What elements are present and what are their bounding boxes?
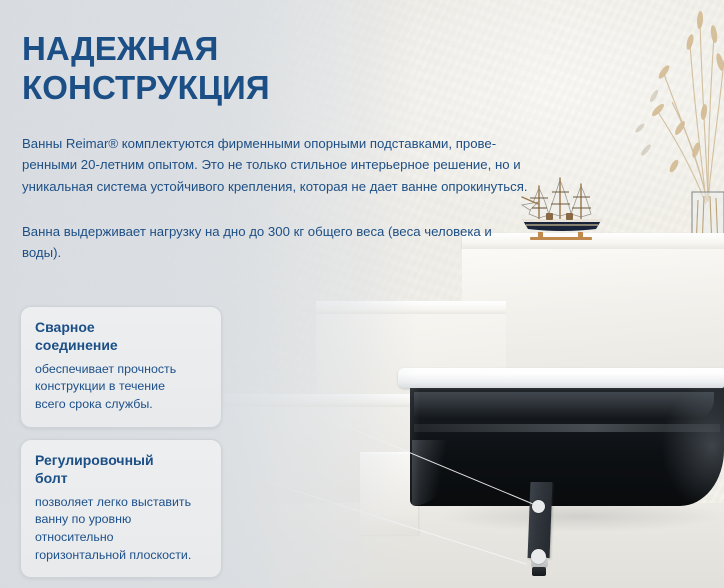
feature-card-title: Регулировочный болт [35, 452, 207, 488]
feature-card-adjusting-bolt[interactable]: Регулировочный болт позволяет легко выст… [20, 439, 222, 578]
feature-card-text: позволяет легко выставить ванну по уровн… [35, 494, 207, 564]
feature-card-title: Сварное соединение [35, 319, 207, 355]
feature-card-text: обеспечивает прочность конструкции в теч… [35, 361, 207, 414]
promo-slide: НАДЕЖНАЯ КОНСТРУКЦИЯ Ванны Reimar® компл… [0, 0, 724, 588]
intro-paragraph: Ванны Reimar® комплектуются фирменными о… [22, 133, 534, 197]
page-title: НАДЕЖНАЯ КОНСТРУКЦИЯ [22, 30, 422, 107]
feature-card-weld-joint[interactable]: Сварное соединение обеспечивает прочност… [20, 306, 222, 428]
content-layer: НАДЕЖНАЯ КОНСТРУКЦИЯ Ванны Reimar® компл… [0, 0, 724, 588]
load-capacity-paragraph: Ванна выдерживает нагрузку на дно до 300… [22, 221, 534, 264]
